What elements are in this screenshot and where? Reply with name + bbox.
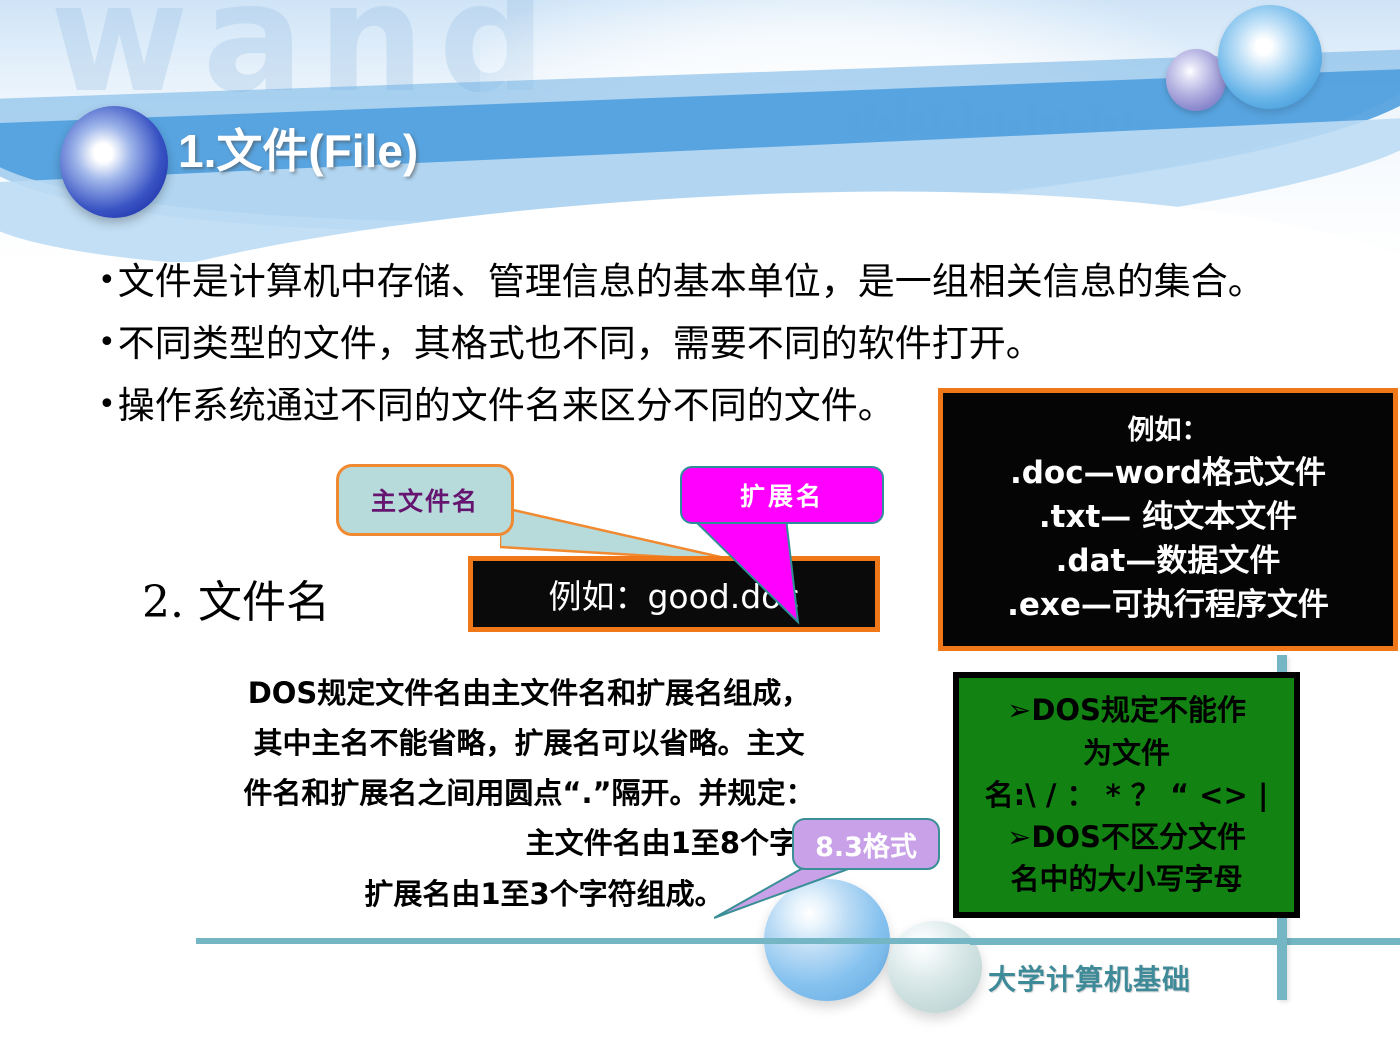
extension-callout-tail <box>690 518 830 626</box>
decorative-sphere-purple <box>1166 49 1226 111</box>
bullet-text: 不同类型的文件，其格式也不同，需要不同的软件打开。 <box>118 324 1043 363</box>
green-box-line: 为文件 <box>1083 732 1170 774</box>
bullet-marker-icon: • <box>98 324 116 362</box>
section-heading-filename: 2. 文件名 <box>142 566 330 630</box>
green-box-line: 名中的大小写字母 <box>1010 858 1242 900</box>
green-box-line: ➢DOS规定不能作 <box>1007 689 1246 731</box>
bullet-marker-icon: • <box>98 262 116 300</box>
bullet-marker-icon: • <box>98 386 116 424</box>
page-title: 1.文件(File) <box>178 115 418 181</box>
extension-box-line: .txt— 纯文本文件 <box>1039 495 1297 539</box>
callout-main-filename[interactable]: 主文件名 <box>336 464 514 536</box>
extension-examples-box: 例如： .doc—word格式文件 .txt— 纯文本文件 .dat—数据文件 … <box>938 388 1398 651</box>
dos-paragraph-line: DOS规定文件名由主文件名和扩展名组成， <box>116 668 942 718</box>
green-box-line: ➢DOS不区分文件 <box>1007 816 1246 858</box>
dos-paragraph-line: 其中主名不能省略，扩展名可以省略。主文 <box>116 718 942 768</box>
footer-rule-left <box>196 938 986 944</box>
callout-83-format[interactable]: 8.3格式 <box>792 818 940 870</box>
extension-box-line: .dat—数据文件 <box>1056 539 1281 583</box>
extension-box-line: .exe—可执行程序文件 <box>1007 583 1329 627</box>
dos-restrictions-box: ➢DOS规定不能作 为文件 名:\ / ： * ？ “ <> | ➢DOS不区分… <box>953 672 1300 918</box>
callout-extension[interactable]: 扩展名 <box>680 466 884 524</box>
list-item: • 不同类型的文件，其格式也不同，需要不同的软件打开。 <box>98 324 1348 363</box>
dos-paragraph-line: 件名和扩展名之间用圆点“.”隔开。并规定： <box>116 768 942 818</box>
green-box-line: 名:\ / ： * ？ “ <> | <box>985 774 1269 816</box>
list-item: • 文件是计算机中存储、管理信息的基本单位，是一组相关信息的集合。 <box>98 262 1348 301</box>
bullet-text: 操作系统通过不同的文件名来区分不同的文件。 <box>118 386 895 425</box>
format-83-callout-tail <box>714 862 864 922</box>
bullet-text: 文件是计算机中存储、管理信息的基本单位，是一组相关信息的集合。 <box>118 262 1265 301</box>
title-bullet-sphere <box>60 106 168 218</box>
extension-box-line: .doc—word格式文件 <box>1010 451 1326 495</box>
decorative-sphere-bottom-pale <box>888 921 982 1013</box>
decorative-sphere-blue-top <box>1218 5 1322 109</box>
slide-canvas: wand 1.文件(File) • <box>0 0 1400 1046</box>
footer-rule-right <box>970 938 1400 945</box>
extension-box-header: 例如： <box>1128 412 1209 450</box>
footer-course-title: 大学计算机基础 <box>988 958 1191 998</box>
